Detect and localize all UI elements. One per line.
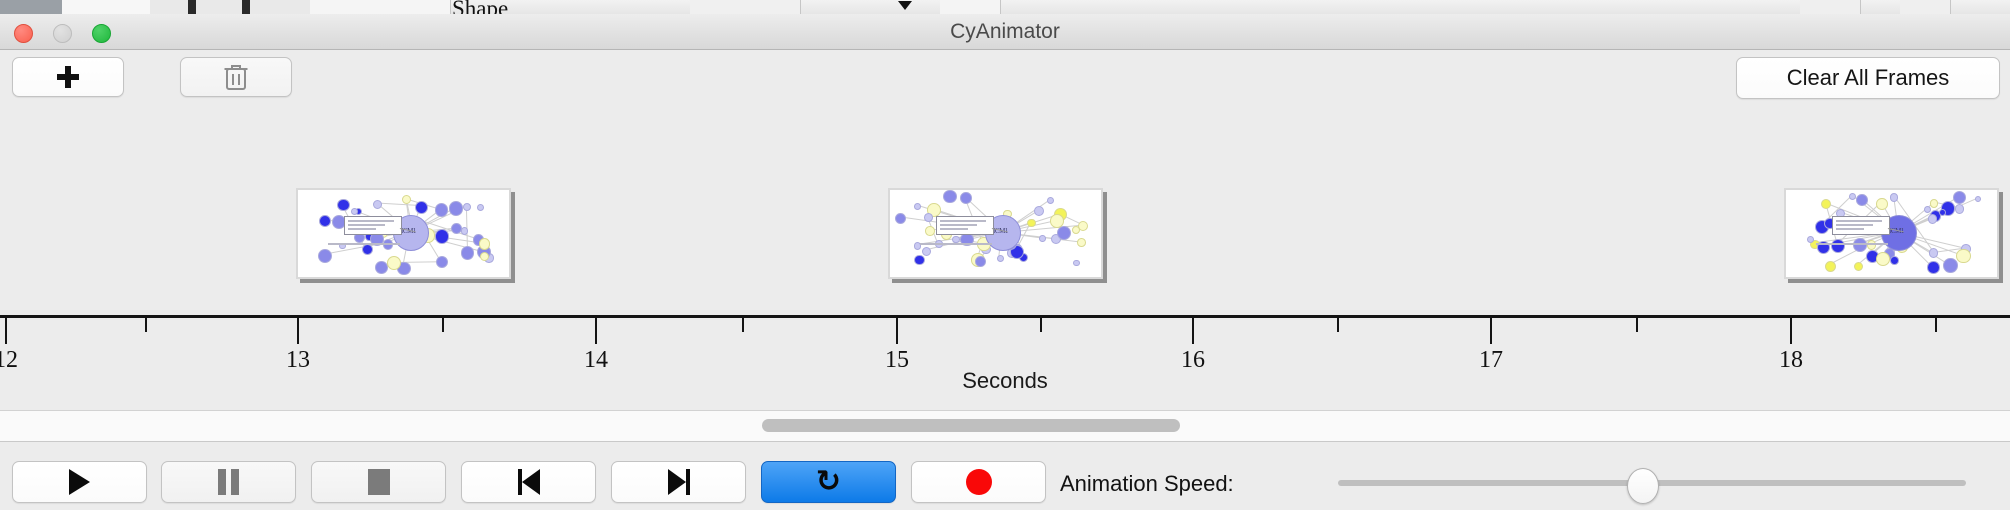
- network-node: [925, 226, 935, 236]
- trash-icon: [223, 62, 249, 92]
- play-button[interactable]: [12, 461, 147, 503]
- callout-text-line: [348, 220, 394, 222]
- callout-text-line: [940, 228, 968, 230]
- network-preview: MCM1: [298, 190, 509, 277]
- animation-speed-label: Animation Speed:: [1060, 471, 1234, 497]
- network-node: [1034, 206, 1044, 216]
- scrollbar-thumb[interactable]: [762, 419, 1180, 432]
- pause-icon: [218, 469, 239, 495]
- network-node: [436, 256, 448, 268]
- network-node: [1050, 214, 1064, 228]
- window-title: CyAnimator: [0, 14, 2010, 49]
- loop-button[interactable]: ↻: [761, 461, 896, 503]
- network-node: [1927, 261, 1940, 274]
- ruler-baseline: [0, 315, 2010, 318]
- network-node: [479, 238, 490, 249]
- record-button[interactable]: [911, 461, 1046, 503]
- frame-thumbnail-image: MCM1: [888, 188, 1103, 279]
- callout-text-line: [1836, 220, 1882, 222]
- stop-icon: [368, 469, 390, 495]
- clear-all-frames-button[interactable]: Clear All Frames: [1736, 57, 2000, 99]
- network-node: [1890, 193, 1898, 201]
- frame-thumbnails: MCM1MCM1MCM1: [0, 110, 2010, 315]
- network-node: [1939, 209, 1946, 216]
- network-node: [975, 256, 986, 267]
- network-node: [1072, 226, 1080, 234]
- network-node: [319, 215, 331, 227]
- ruler-tick: [1040, 318, 1042, 332]
- network-preview: MCM1: [890, 190, 1101, 277]
- network-node: [1077, 238, 1086, 247]
- network-node: [914, 203, 921, 210]
- ruler-tick: [1490, 318, 1492, 344]
- ruler-tick: [1790, 318, 1792, 344]
- skip-to-start-button[interactable]: [461, 461, 596, 503]
- network-node: [1867, 240, 1876, 249]
- network-caption-line: [1816, 243, 1888, 245]
- network-node: [1831, 239, 1845, 253]
- background-window-strip: Shape: [0, 0, 2010, 15]
- network-node: [461, 246, 474, 259]
- network-edge: [377, 203, 421, 207]
- network-node: [1057, 226, 1071, 240]
- pause-button[interactable]: [161, 461, 296, 503]
- skip-to-end-button[interactable]: [611, 461, 746, 503]
- network-node: [1956, 249, 1970, 263]
- network-node: [1073, 260, 1079, 266]
- add-frame-button[interactable]: [12, 57, 124, 97]
- callout-text-line: [1836, 224, 1873, 226]
- network-node: [362, 244, 373, 255]
- network-node: [463, 203, 471, 211]
- network-node: [914, 255, 925, 266]
- plus-icon: [57, 66, 79, 88]
- ruler-tick: [442, 318, 444, 332]
- network-node: [1953, 191, 1966, 204]
- network-node: [1955, 204, 1965, 214]
- network-node: [1924, 206, 1931, 213]
- callout-text-line: [348, 228, 376, 230]
- skip-back-icon: [516, 469, 542, 495]
- network-node: [1930, 199, 1938, 207]
- network-node: [1027, 219, 1036, 228]
- network-node: [1890, 256, 1899, 265]
- network-node: [1876, 198, 1888, 210]
- play-icon: [69, 469, 90, 495]
- callout-text-line: [1836, 228, 1864, 230]
- network-node: [461, 227, 468, 234]
- ruler-tick: [1636, 318, 1638, 332]
- delete-frame-button[interactable]: [180, 57, 292, 97]
- frame-thumbnail[interactable]: MCM1: [1784, 188, 2003, 283]
- network-node: [318, 249, 332, 263]
- record-icon: [966, 469, 992, 495]
- frame-toolbar: [0, 50, 2010, 111]
- ruler-tick: [5, 318, 7, 344]
- callout-text-line: [940, 224, 977, 226]
- network-node: [1876, 252, 1890, 266]
- ruler-tick: [595, 318, 597, 344]
- ruler-tick: [1337, 318, 1339, 332]
- skip-forward-icon: [666, 469, 692, 495]
- ruler-tick: [145, 318, 147, 332]
- ruler-tick: [297, 318, 299, 344]
- network-node: [415, 201, 428, 214]
- network-node: [337, 199, 349, 211]
- stop-button[interactable]: [311, 461, 446, 503]
- network-node: [1821, 199, 1831, 209]
- animation-speed-slider-thumb[interactable]: [1627, 468, 1659, 504]
- timeline-ruler[interactable]: 12131415161718: [0, 315, 2010, 410]
- ruler-tick: [1192, 318, 1194, 344]
- network-preview: MCM1: [1786, 190, 1997, 277]
- network-node: [1943, 258, 1958, 273]
- network-node: [435, 229, 449, 243]
- network-caption-line: [920, 243, 992, 245]
- callout-text-line: [348, 224, 385, 226]
- network-node: [1853, 238, 1867, 252]
- network-node: [895, 213, 906, 224]
- title-bar: CyAnimator: [0, 14, 2010, 50]
- network-node: [449, 201, 464, 216]
- network-node: [1854, 262, 1863, 271]
- network-node: [477, 204, 484, 211]
- network-node: [1039, 235, 1046, 242]
- network-node: [1975, 196, 1982, 203]
- frame-thumbnail-image: MCM1: [296, 188, 511, 279]
- loop-icon: ↻: [816, 467, 841, 497]
- network-node: [922, 247, 932, 257]
- background-window-label: Shape: [452, 0, 508, 15]
- network-node: [1825, 261, 1836, 272]
- axis-title: Seconds: [0, 368, 2010, 394]
- frame-thumbnail[interactable]: MCM1: [296, 188, 515, 283]
- network-node: [1047, 197, 1054, 204]
- ruler-tick: [742, 318, 744, 332]
- network-node: [960, 192, 972, 204]
- timeline-panel[interactable]: MCM1MCM1MCM1 12131415161718: [0, 110, 2010, 411]
- frame-thumbnail-image: MCM1: [1784, 188, 1999, 279]
- network-node: [402, 195, 411, 204]
- network-node: [943, 190, 956, 203]
- network-node: [435, 203, 448, 216]
- frame-thumbnail[interactable]: MCM1: [888, 188, 1107, 283]
- callout-text-line: [940, 220, 986, 222]
- ruler-tick: [1935, 318, 1937, 332]
- network-node: [997, 255, 1004, 262]
- network-caption-line: [328, 243, 400, 245]
- ruler-tick: [896, 318, 898, 344]
- timeline-scrollbar[interactable]: [0, 411, 2010, 442]
- cyanimator-window: Shape CyAnimator Clear All Frames MCM1MC…: [0, 0, 2010, 510]
- network-node: [1928, 214, 1937, 223]
